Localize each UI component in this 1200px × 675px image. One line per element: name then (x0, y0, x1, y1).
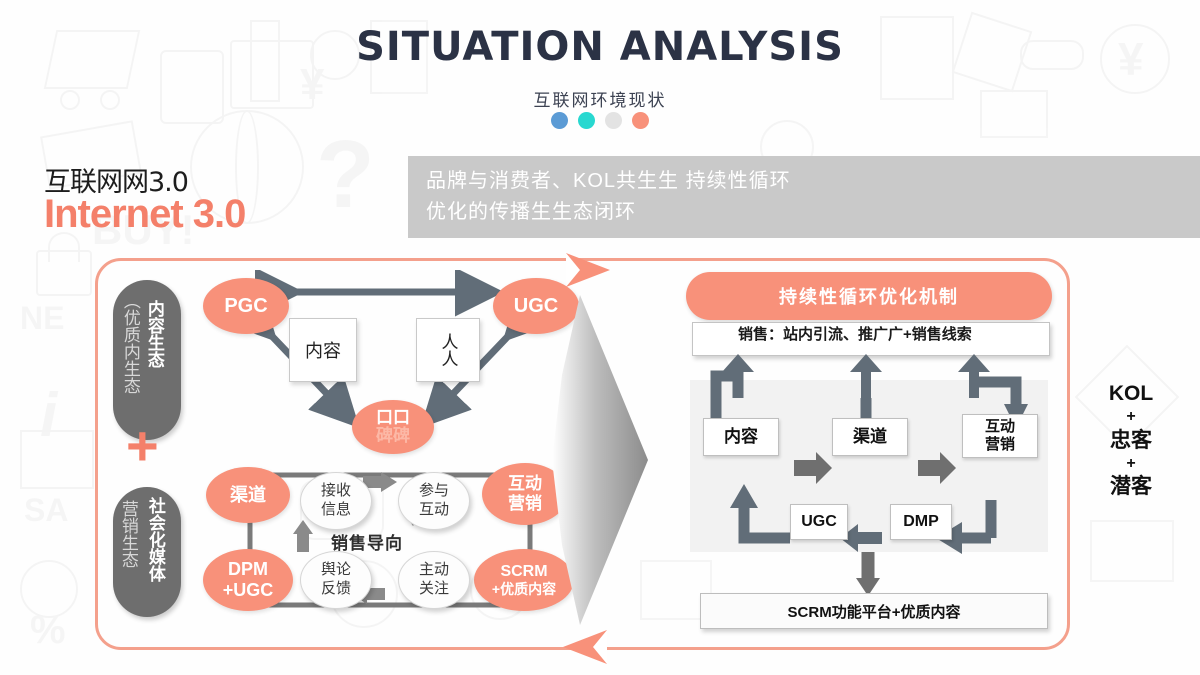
sale-text-icon: SA (24, 492, 68, 529)
right-panel-header: 持续性循环优化机制 (686, 272, 1052, 320)
dot-teal (578, 112, 595, 129)
bubble-dpm-line1: DPM (228, 559, 268, 580)
cycle-node-active-follow: 主动 关注 (398, 551, 470, 609)
browser-window-icon (20, 430, 94, 489)
cycle-node-feedback-line1: 舆论 (321, 561, 351, 580)
box-people-text: 人人 (440, 333, 457, 367)
outcome-kol: KOL (1076, 382, 1186, 406)
percent-icon: % (30, 608, 66, 653)
pill-social-media-label-front: 社会化媒体 (146, 497, 164, 611)
box-content-label: 内容 (289, 318, 357, 382)
monitor-icon (1090, 520, 1174, 582)
sales-box-text: 销售：站内引流、推广广+销售线索 (738, 322, 1048, 348)
dot-blue (551, 112, 568, 129)
flow-box-dmp: DMP (890, 504, 952, 540)
transition-chevron-icon (552, 295, 652, 625)
flow-box-interactive-marketing: 互动 营销 (962, 414, 1038, 458)
plus-connector: + (126, 418, 159, 474)
pill-social-media-label-back: 营销生态 (119, 500, 137, 608)
outcome-block: KOL + 忠客 + 潜客 (1076, 382, 1186, 499)
dot-salmon (632, 112, 649, 129)
cycle-node-receive-info-line1: 接收 (321, 482, 351, 501)
page-subtitle: 互联网环境现状 (0, 86, 1200, 111)
statement-banner-text: 品牌与消费者、KOL共生生 持续性循环优化的传播生生态闭环 (426, 166, 796, 228)
bubble-word-of-mouth: 口口 碑碑 (352, 400, 434, 454)
flow-box-ugc: UGC (790, 504, 848, 540)
info-icon: i (40, 380, 57, 451)
bubble-dpm-line2: +UGC (223, 580, 274, 601)
lock-icon (36, 250, 92, 296)
outcome-potential: 潜客 (1076, 475, 1186, 499)
bubble-scrm-line2: +优质内容 (492, 581, 556, 597)
flow-box-interactive-line1: 互动 (985, 418, 1015, 436)
dot-indicator-group (0, 112, 1200, 129)
outcome-plus-1: + (1076, 408, 1186, 426)
bubble-dpm-ugc: DPM +UGC (203, 549, 293, 611)
box-people-label: 人人 (416, 318, 480, 382)
bubble-pgc: PGC (203, 278, 289, 334)
statement-banner: 品牌与消费者、KOL共生生 持续性循环优化的传播生生态闭环 (408, 156, 1200, 238)
slide-canvas: ¥ ¥ ? BUY! NE i SA % SITUATION ANALYSIS … (0, 0, 1200, 675)
cycle-node-participate-line2: 互动 (419, 501, 449, 520)
flow-box-channel: 渠道 (832, 418, 908, 456)
cycle-node-active-follow-line1: 主动 (419, 561, 449, 580)
clock-icon (20, 560, 78, 618)
bubble-channel: 渠道 (206, 467, 290, 523)
outcome-loyal: 忠客 (1076, 429, 1186, 453)
bubble-interactive-line1: 互动 (508, 474, 542, 494)
flow-box-interactive-line2: 营销 (985, 436, 1015, 454)
pill-content-ecosystem-label-back: （优质内生态 (121, 292, 139, 432)
cycle-node-feedback-line2: 反馈 (321, 580, 351, 599)
dot-gray (605, 112, 622, 129)
flow-box-content: 内容 (703, 418, 779, 456)
bubble-word-of-mouth-back: 碑碑 (352, 426, 434, 446)
brand-english-label: Internet 3.0 (44, 192, 245, 237)
bubble-interactive-line2: 营销 (508, 494, 542, 514)
cycle-node-receive-info: 接收 信息 (300, 472, 372, 530)
cycle-node-feedback: 舆论 反馈 (300, 551, 372, 609)
cycle-node-active-follow-line2: 关注 (419, 580, 449, 599)
question-mark-icon: ? (316, 120, 375, 230)
net-text-icon: NE (20, 300, 64, 337)
cycle-node-participate-line1: 参与 (419, 482, 449, 501)
outcome-plus-2: + (1076, 455, 1186, 473)
bubble-word-of-mouth-front: 口口 (352, 408, 434, 428)
cycle-node-receive-info-line2: 信息 (321, 501, 351, 520)
bottom-platform-box: SCRM功能平台+优质内容 (700, 593, 1048, 629)
page-title: SITUATION ANALYSIS (0, 24, 1200, 70)
cycle-center-label: 销售导向 (331, 529, 403, 554)
cycle-node-participate: 参与 互动 (398, 472, 470, 530)
flow-arrows (686, 352, 1056, 602)
pill-content-ecosystem-label-front: 内容生态 (145, 300, 163, 430)
bubble-scrm-line1: SCRM (500, 563, 547, 581)
